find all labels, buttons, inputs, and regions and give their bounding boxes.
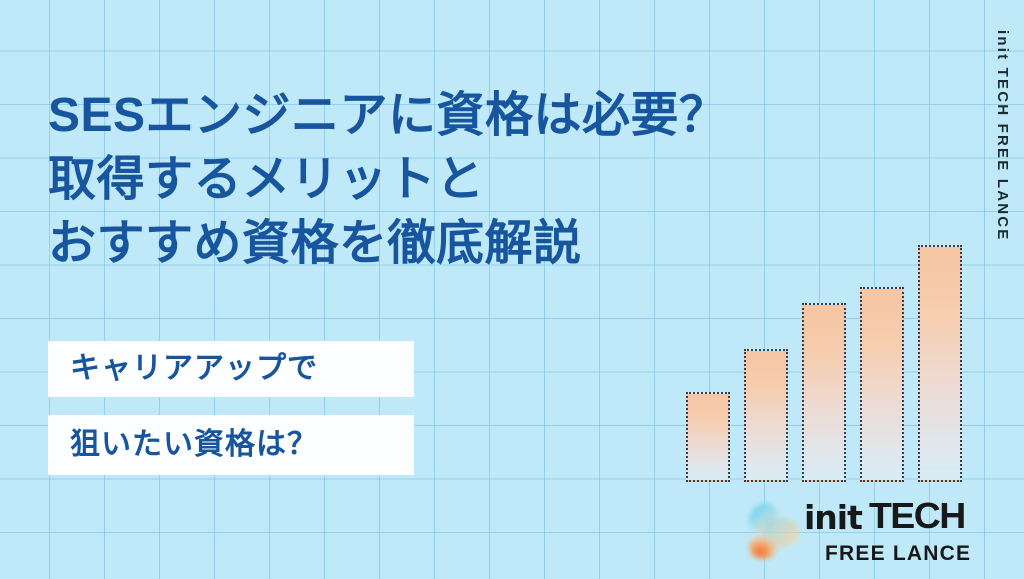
logo-line-primary: init TECH [804,498,986,534]
logo-text-tagline: FREE LANCE [825,543,986,564]
subtitle-chip-1: キャリアアップで [48,341,414,397]
logo-text-tech: TECH [869,498,965,534]
init-tech-blob-mark-icon [740,500,806,564]
poster-canvas: SESエンジニアに資格は必要？ 取得するメリットと おすすめ資格を徹底解説 in… [0,0,1024,579]
bar-5 [918,245,962,482]
subtitle-chip-1-label: キャリアアップで [70,354,318,384]
bar-2 [744,349,788,482]
bar-chart [686,230,976,482]
bar-1 [686,392,730,482]
headline-line-1: SESエンジニアに資格は必要？ [48,84,948,148]
subtitle-chip-2-label: 狙いたい資格は？ [70,430,318,460]
vertical-brand-text: init TECH FREE LANCE [995,30,1010,242]
logo-wordmark: init TECH FREE LANCE [804,498,986,564]
bar-3 [802,303,846,482]
bar-4 [860,287,904,482]
headline-line-2: 取得するメリットと [48,148,948,212]
logo-text-init: init [804,501,862,534]
subtitle-chip-2: 狙いたい資格は？ [48,415,414,475]
brand-logo: init TECH FREE LANCE [740,498,986,568]
